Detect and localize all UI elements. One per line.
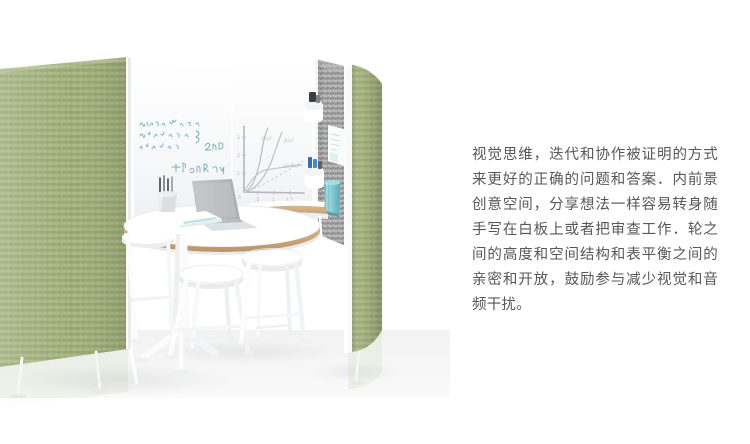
marker-lightblue (313, 159, 317, 168)
svg-text:f(x)²: f(x)² (283, 137, 294, 144)
svg-text:f(x)³: f(x)³ (261, 135, 272, 142)
pinned-paper-note (328, 125, 344, 166)
description-block: 视觉思维，迭代和协作被证明的方式来更好的正确的问题和答案．内前景创意空间，分享想… (472, 143, 718, 318)
svg-text:0: 0 (238, 195, 241, 201)
svg-text:3: 3 (237, 135, 240, 141)
marker-blue (308, 157, 312, 168)
svg-text:2: 2 (237, 153, 240, 159)
left-green-acoustic-panel (0, 57, 145, 399)
marker-gray-2 (318, 161, 322, 169)
booth-illustration: 1 2 3 .5 1 1.5 0 f(x)³ (0, 0, 450, 444)
marker-gray (316, 95, 320, 103)
product-feature-page: 1 2 3 .5 1 1.5 0 f(x)³ (0, 0, 750, 444)
marker-dark (309, 92, 316, 102)
right-green-acoustic-panel (344, 62, 382, 385)
svg-text:y=f(x): y=f(x) (283, 162, 299, 169)
description-text: 视觉思维，迭代和协作被证明的方式来更好的正确的问题和答案．内前景创意空间，分享想… (472, 143, 718, 318)
svg-text:1: 1 (237, 171, 240, 177)
svg-text:.5: .5 (255, 197, 259, 203)
collaborative-workspace-booth-photo: 1 2 3 .5 1 1.5 0 f(x)³ (0, 0, 450, 444)
